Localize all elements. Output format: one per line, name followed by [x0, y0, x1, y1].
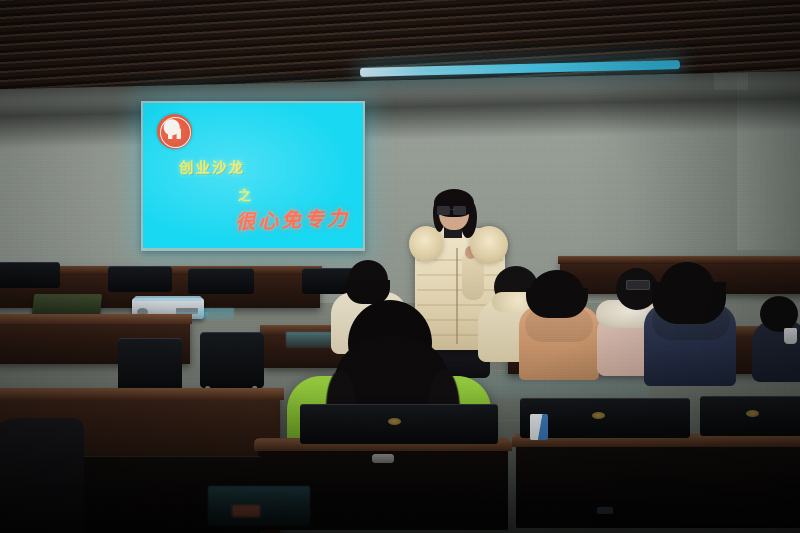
bench-small-object: [597, 507, 613, 514]
slide-title-line2: 之: [238, 185, 251, 204]
seat-emblem-icon: [746, 410, 759, 417]
projector-top-highlight: [134, 296, 202, 301]
university-emblem-icon: [157, 114, 192, 149]
student-hair: [652, 282, 726, 324]
eyeglasses-icon: [626, 280, 650, 290]
seat-back: [108, 266, 172, 292]
seat-emblem-icon: [388, 418, 401, 425]
desk-screen-reflection: [286, 332, 332, 348]
reflected-slide-text: [232, 505, 260, 517]
bench-back-front-right: [516, 440, 800, 528]
presenter-coat-zipper: [456, 248, 458, 344]
student-hair: [526, 288, 588, 318]
desk-top-front-left: [0, 388, 284, 400]
slide-title-line1: 创业沙龙: [179, 157, 245, 178]
seat-back: [188, 268, 254, 294]
presenter-fur-hood-right: [470, 226, 508, 264]
emblem-ring: [160, 117, 191, 148]
chair-aisle-center[interactable]: [200, 332, 264, 388]
desk-top-mid-left: [0, 314, 192, 324]
seat-emblem-icon: [592, 412, 605, 419]
seat-back: [0, 262, 60, 288]
bench-nameplate: [372, 454, 394, 463]
slide-title-line3: 很心免专力: [235, 202, 351, 235]
foreground-person-left: [0, 418, 84, 533]
paper-cup[interactable]: [784, 328, 797, 344]
eyeglasses-icon: [437, 206, 466, 214]
bench-paper-card[interactable]: [530, 414, 548, 440]
open-laptop[interactable]: [32, 294, 102, 316]
projection-screen: 创业沙龙 之 很心免专力: [143, 103, 363, 248]
student-hair: [760, 296, 798, 332]
classroom-photo: 创业沙龙 之 很心免专力: [0, 0, 800, 533]
